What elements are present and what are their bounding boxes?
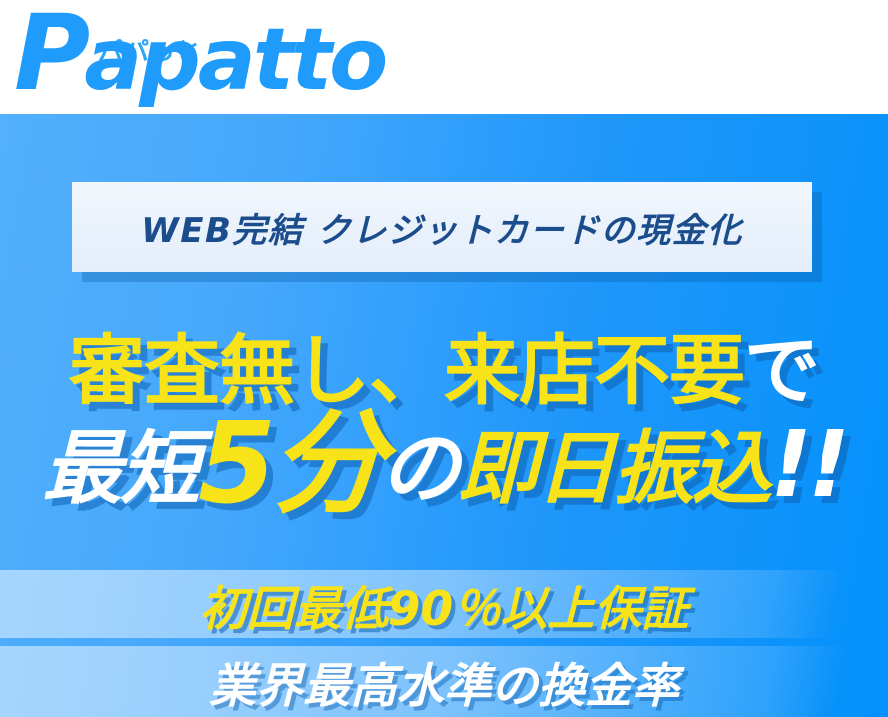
headline-panel-text: WEB完結 クレジットカードの現金化 (141, 203, 742, 252)
benefit-band-1: 初回最低90％以上保証 (0, 570, 888, 638)
promo-banner: パパっと Papatto WEB完結 クレジットカードの現金化 審査無し、来店不… (0, 0, 888, 717)
hero-background: WEB完結 クレジットカードの現金化 審査無し、来店不要で 最短5分の即日振込!… (0, 114, 888, 717)
hero-line-1: 審査無し、来店不要で (0, 328, 888, 414)
brand-logo[interactable]: パパっと Papatto (14, 8, 264, 108)
hero-line2-suffix: 即日振込 (458, 422, 770, 515)
site-header: パパっと Papatto (0, 0, 888, 114)
hero-line1-yellow: 審査無し、来店不要 (69, 326, 744, 415)
headline-panel: WEB完結 クレジットカードの現金化 (72, 182, 812, 272)
benefit-band-2-text: 業界最高水準の換金率 (0, 646, 888, 717)
brand-wordmark: Papatto (14, 10, 385, 103)
brand-initial: P (14, 0, 84, 114)
hero-line2-exclamation: !! (770, 411, 846, 518)
hero-line2-prefix: 最短 (42, 422, 198, 515)
benefit-band-1-text: 初回最低90％以上保証 (0, 570, 888, 638)
benefit-band-2: 業界最高水準の換金率 (0, 646, 888, 717)
hero-line-2: 最短5分の即日振込!! (0, 416, 888, 517)
brand-name-rest: apatto (84, 10, 385, 110)
hero-line1-white: で (744, 326, 819, 415)
hero-line2-number: 5分 (198, 399, 380, 529)
hero-line2-particle: の (380, 422, 458, 515)
